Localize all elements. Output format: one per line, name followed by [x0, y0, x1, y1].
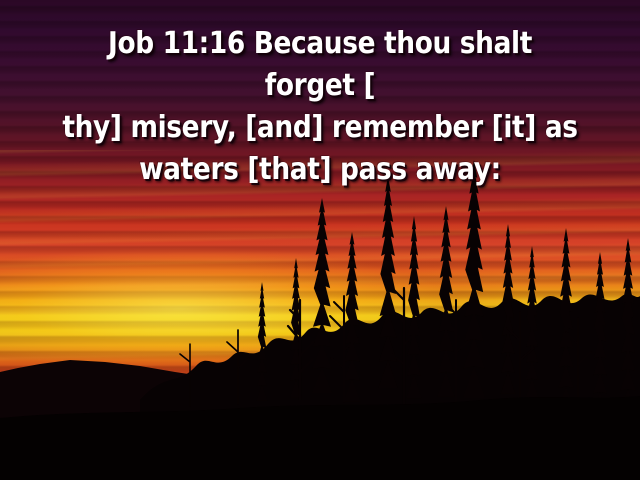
scripture-image-canvas: Job 11:16 Because thou shalt forget [ th…	[0, 0, 640, 480]
verse-text: Job 11:16 Because thou shalt forget [ th…	[38, 23, 601, 191]
